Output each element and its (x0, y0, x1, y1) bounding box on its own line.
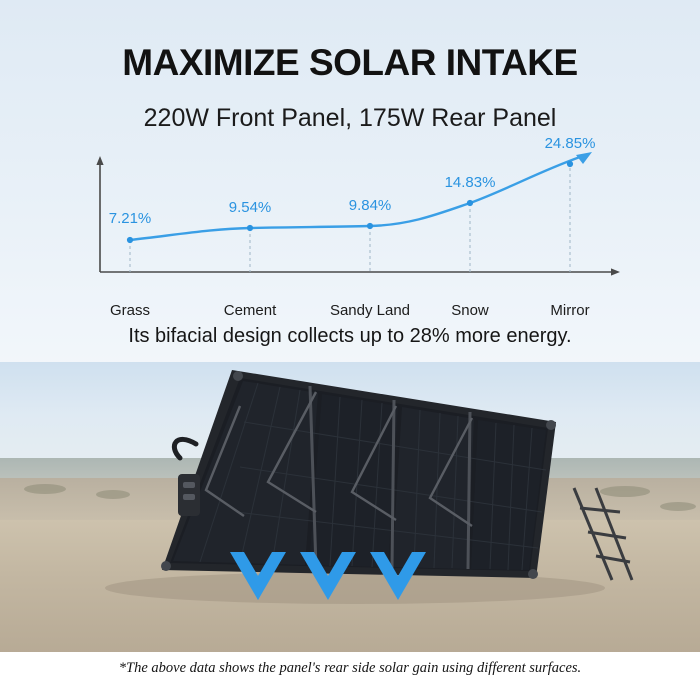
y-axis-arrow (96, 156, 103, 165)
chart-x-tick-labels: Grass Cement Sandy Land Snow Mirror (72, 302, 632, 324)
panel-cable (174, 439, 196, 458)
x-tick-sandy-land: Sandy Land (330, 302, 410, 319)
product-infographic: MAXIMIZE SOLAR INTAKE 220W Front Panel, … (0, 0, 700, 700)
chart-series-arrowhead (576, 152, 592, 164)
x-tick-snow: Snow (451, 302, 489, 319)
data-label-snow: 14.83% (445, 174, 496, 191)
solar-gain-chart: 7.21% 9.54% 9.84% 14.83% 24.85% (72, 152, 632, 302)
chart-caption: Its bifacial design collects up to 28% m… (0, 325, 700, 348)
product-photo (0, 362, 700, 654)
panel-kickstand (574, 488, 632, 580)
x-tick-cement: Cement (224, 302, 277, 319)
panel-port-box (178, 474, 200, 516)
chart-droplines (130, 162, 570, 272)
x-tick-grass: Grass (110, 302, 150, 319)
x-tick-mirror: Mirror (550, 302, 589, 319)
data-label-cement: 9.54% (229, 199, 272, 216)
solar-panel-illustration (0, 362, 700, 654)
data-label-sandy-land: 9.84% (349, 197, 392, 214)
page-title: MAXIMIZE SOLAR INTAKE (0, 42, 700, 84)
data-label-mirror: 24.85% (545, 135, 596, 152)
footnote-text: *The above data shows the panel's rear s… (0, 660, 700, 677)
chart-canvas (72, 152, 632, 302)
x-axis-arrow (611, 268, 620, 275)
data-label-grass: 7.21% (109, 210, 152, 227)
page-subtitle: 220W Front Panel, 175W Rear Panel (0, 104, 700, 133)
